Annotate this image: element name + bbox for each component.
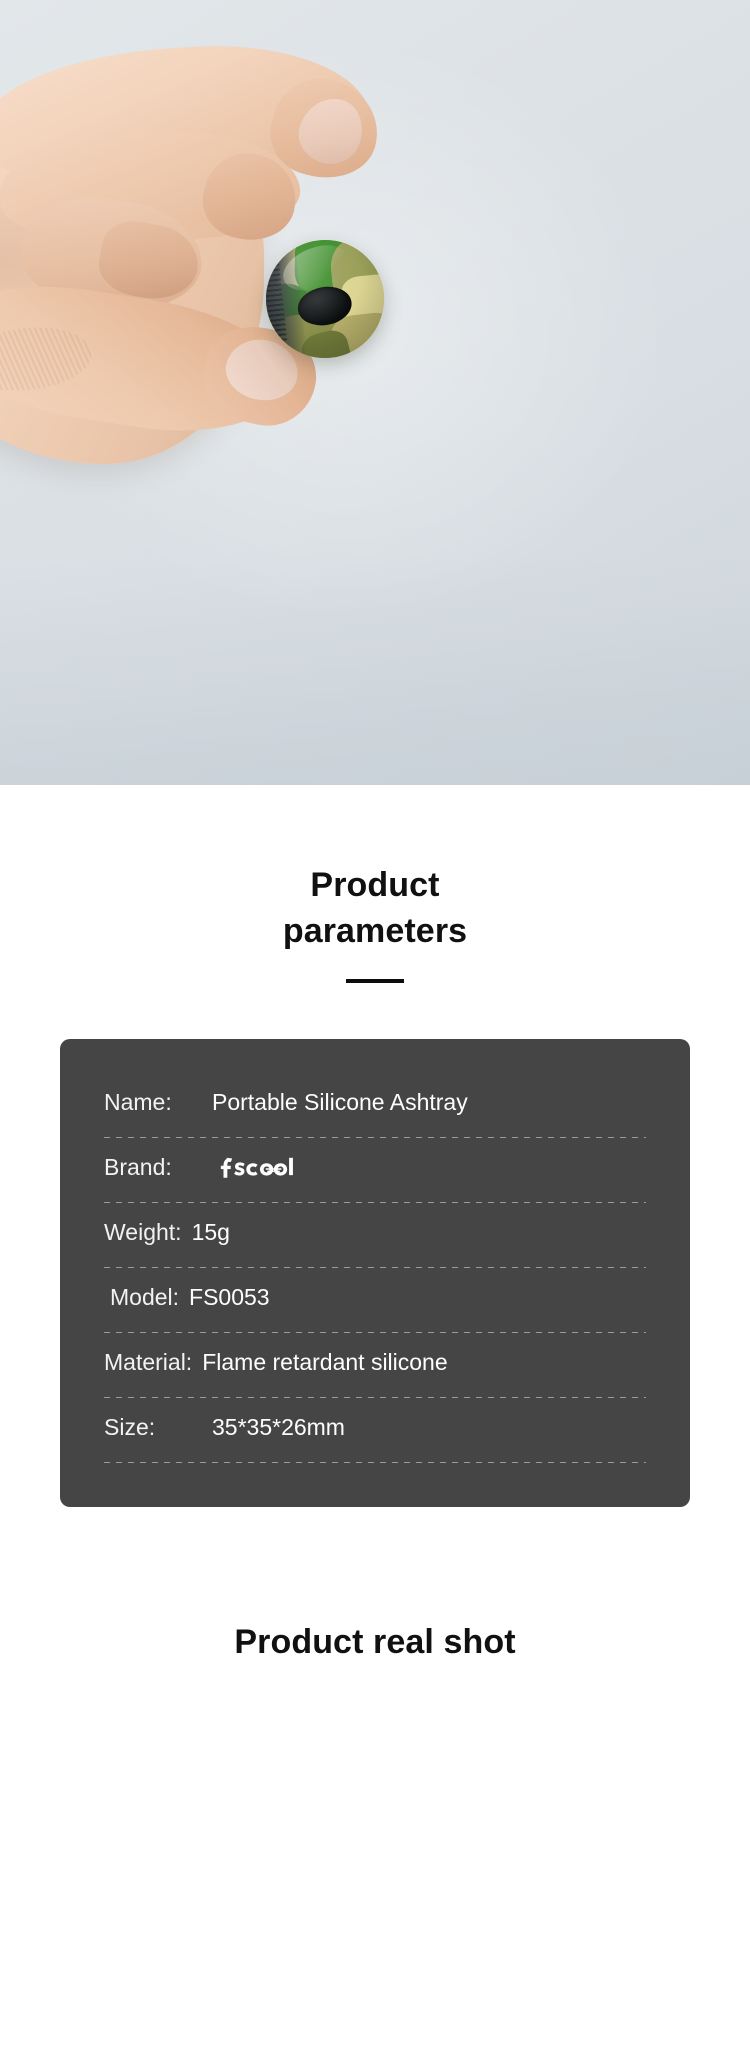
spec-separator bbox=[104, 1462, 646, 1463]
spec-separator bbox=[104, 1137, 646, 1138]
spec-row-material: Material: Flame retardant silicone bbox=[104, 1341, 646, 1387]
spec-value-weight: 15g bbox=[192, 1219, 230, 1247]
spec-label-name: Name: bbox=[104, 1089, 212, 1117]
hand-illustration bbox=[0, 28, 464, 488]
spec-value-size: 35*35*26mm bbox=[212, 1414, 345, 1442]
spec-row-size: Size: 35*35*26mm bbox=[104, 1406, 646, 1452]
spec-label-material: Material: bbox=[104, 1349, 192, 1377]
spec-label-brand: Brand: bbox=[104, 1154, 212, 1182]
spec-separator bbox=[104, 1332, 646, 1333]
parameters-section-title: Product parameters bbox=[0, 785, 750, 955]
spec-label-weight: Weight: bbox=[104, 1219, 182, 1247]
content-body: Product parameters Name: Portable Silico… bbox=[0, 785, 750, 1662]
title-divider-rule bbox=[346, 979, 404, 983]
spec-label-model: Model: bbox=[104, 1284, 179, 1312]
spec-value-model: FS0053 bbox=[189, 1284, 270, 1312]
silicone-ashtray-product bbox=[260, 234, 390, 364]
hero-product-image bbox=[0, 0, 750, 785]
real-shot-section-title: Product real shot bbox=[0, 1507, 750, 1662]
spec-separator bbox=[104, 1397, 646, 1398]
spec-separator bbox=[104, 1267, 646, 1268]
parameters-title-line-2: parameters bbox=[0, 909, 750, 955]
spec-row-model: Model: FS0053 bbox=[104, 1276, 646, 1322]
spec-separator bbox=[104, 1202, 646, 1203]
spec-row-brand: Brand: bbox=[104, 1146, 646, 1192]
hero-bottom-shading bbox=[0, 555, 750, 785]
spec-row-weight: Weight: 15g bbox=[104, 1211, 646, 1257]
spec-label-size: Size: bbox=[104, 1414, 212, 1442]
product-parameters-card: Name: Portable Silicone Ashtray Brand: bbox=[60, 1039, 690, 1507]
parameters-title-line-1: Product bbox=[0, 863, 750, 909]
spec-row-name: Name: Portable Silicone Ashtray bbox=[104, 1081, 646, 1127]
spec-value-material: Flame retardant silicone bbox=[202, 1349, 447, 1377]
spec-value-name: Portable Silicone Ashtray bbox=[212, 1089, 468, 1117]
fscool-brand-logo bbox=[212, 1155, 310, 1181]
